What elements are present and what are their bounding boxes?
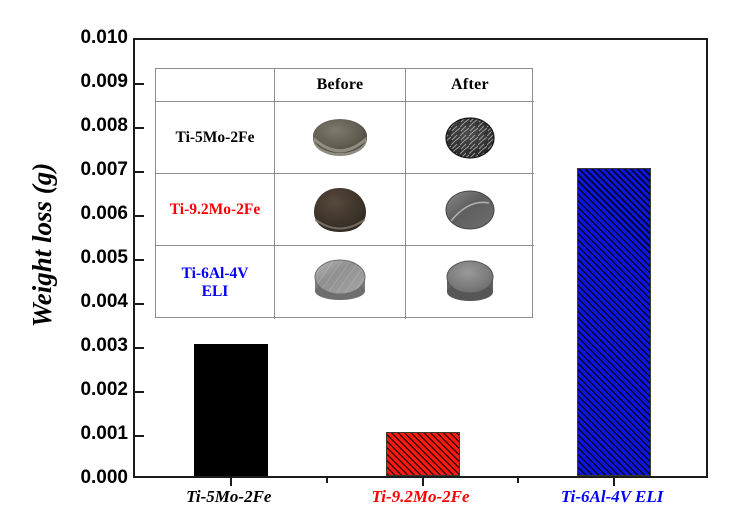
inset-cell-before-2 [275,246,406,319]
y-axis-tick-mark [135,347,144,349]
bar-ti-6al-4v-eli[interactable] [577,168,651,476]
y-axis-tick-mark [135,259,144,261]
y-axis-tick-label: 0.009 [38,71,128,93]
inset-row-material-cell: Ti-5Mo-2Fe [156,102,275,174]
x-axis-tick-label: Ti-6Al-4V ELI [561,487,663,507]
specimen-disc-icon [311,185,369,235]
x-axis-tick-mark [230,476,232,486]
x-axis-tick-mark [613,476,615,486]
y-axis-tick-label: 0.002 [38,379,128,401]
y-axis-tick-label: 0.004 [38,291,128,313]
weight-loss-bar-chart-figure: Weight loss (g) 0.0100.0090.0080.0070.00… [0,0,740,526]
inset-cell-after-2 [406,246,534,319]
y-axis-tick-mark [135,435,144,437]
y-axis-tick-label: 0.006 [38,203,128,225]
y-axis-tick-mark [135,215,144,217]
y-axis-tick-label: 0.005 [38,247,128,269]
inset-row-material-cell: Ti-6Al-4V ELI [156,246,275,319]
x-axis-tick-label: Ti-9.2Mo-2Fe [371,487,469,507]
inset-material-label-2-line2: ELI [202,283,229,300]
inset-material-label-1: Ti-9.2Mo-2Fe [168,201,263,219]
y-axis-tick-mark [135,391,144,393]
specimen-disc-icon [309,114,371,162]
specimen-disc-icon [310,257,370,309]
bar-ti-9-2mo-2fe[interactable] [386,432,460,476]
inset-cell-after-1 [406,174,534,246]
x-axis-minor-tick-mark [326,476,328,483]
specimen-disc-icon [442,114,498,162]
inset-material-label-0: Ti-5Mo-2Fe [174,129,257,147]
x-axis-tick-labels: Ti-5Mo-2FeTi-9.2Mo-2FeTi-6Al-4V ELI [133,487,708,521]
specimen-disc-icon [442,258,498,308]
y-axis-tick-label: 0.000 [38,467,128,489]
inset-header-after: After [406,69,534,102]
y-axis-tick-mark [135,83,144,85]
x-axis-tick-label: Ti-5Mo-2Fe [186,487,271,507]
y-axis-tick-label: 0.007 [38,159,128,181]
inset-header-before: Before [275,69,406,102]
inset-material-label-2-line1: Ti-6Al-4V [182,265,249,282]
inset-header-after-label: After [451,76,489,94]
inset-cell-before-1 [275,174,406,246]
y-axis-tick-mark [135,171,144,173]
inset-row-material-cell: Ti-9.2Mo-2Fe [156,174,275,246]
x-axis-minor-tick-mark [517,476,519,483]
y-axis-tick-label: 0.008 [38,115,128,137]
inset-specimen-table: Before After Ti-5Mo-2Fe [155,68,533,318]
y-axis-tick-label: 0.010 [38,27,128,49]
y-axis-tick-mark [135,127,144,129]
y-axis-tick-label: 0.001 [38,423,128,445]
inset-cell-before-0 [275,102,406,174]
y-axis-tick-label: 0.003 [38,335,128,357]
inset-material-label-2: Ti-6Al-4V ELI [180,265,251,301]
inset-header-before-label: Before [317,76,364,94]
inset-cell-after-0 [406,102,534,174]
x-axis-tick-mark [422,476,424,486]
y-axis-tick-labels: 0.0100.0090.0080.0070.0060.0050.0040.003… [38,38,128,478]
y-axis-tick-mark [135,303,144,305]
bar-ti-5mo-2fe[interactable] [194,344,268,476]
specimen-disc-icon [443,187,497,233]
inset-header-corner-cell [156,69,275,102]
